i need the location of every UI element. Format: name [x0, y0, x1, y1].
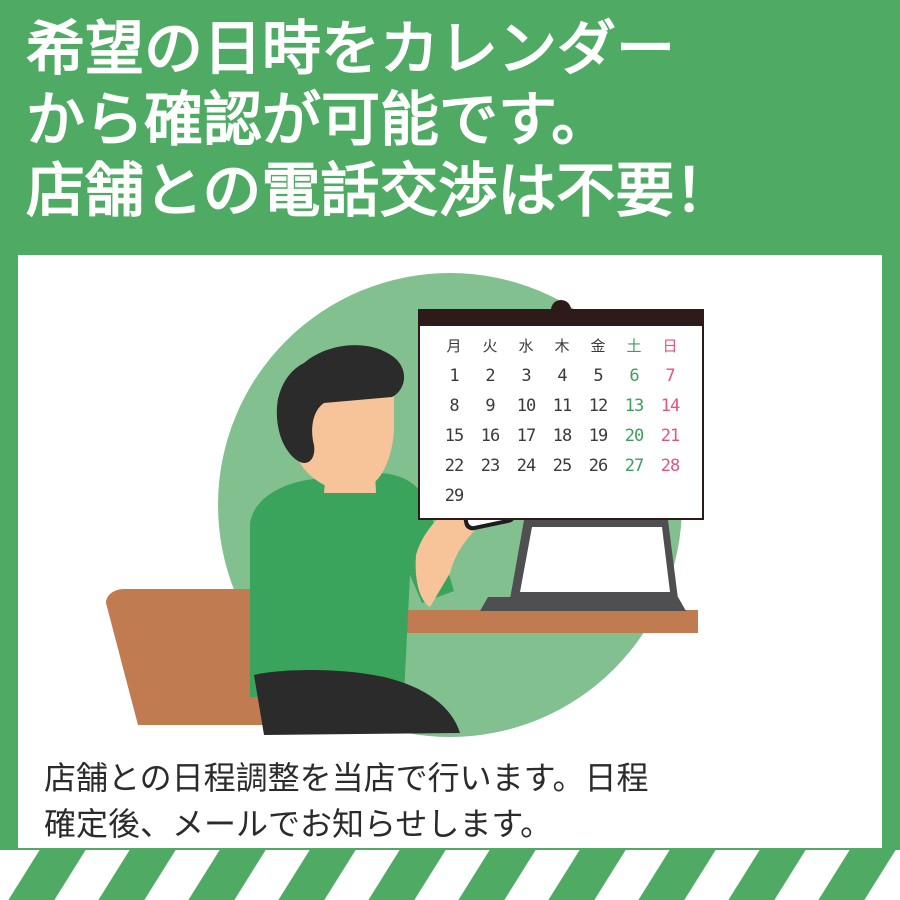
calendar-day: 26 [580, 454, 616, 478]
calendar-weekday-fri: 金 [580, 334, 616, 358]
calendar-day-empty [580, 484, 616, 508]
calendar-weekday-thu: 木 [544, 334, 580, 358]
calendar-day: 14 [652, 394, 688, 418]
calendar-day: 28 [652, 454, 688, 478]
calendar-day: 18 [544, 424, 580, 448]
calendar-day: 22 [436, 454, 472, 478]
stripe [136, 850, 229, 900]
calendar-day: 17 [508, 424, 544, 448]
bottom-stripe-band [0, 850, 900, 900]
calendar-day-empty [652, 484, 688, 508]
calendar-day: 23 [472, 454, 508, 478]
stripe [586, 850, 679, 900]
stripe [316, 850, 409, 900]
stripe [226, 850, 319, 900]
laptop-base [480, 597, 686, 611]
laptop-screen [520, 527, 670, 592]
page-title: 希望の日時をカレンダー から確認が可能です。 店舗との電話交渉は不要！ [26, 14, 876, 227]
calendar-day: 24 [508, 454, 544, 478]
calendar-day: 1 [436, 364, 472, 388]
header-banner: 希望の日時をカレンダー から確認が可能です。 店舗との電話交渉は不要！ [0, 0, 900, 253]
calendar-day-empty [616, 484, 652, 508]
content-panel: 月 火 水 木 金 土 日 1 2 3 4 5 6 7 8 9 10 [18, 255, 882, 848]
stripe [766, 850, 859, 900]
stripe [0, 850, 48, 900]
calendar-weekday-mon: 月 [436, 334, 472, 358]
calendar-weekday-wed: 水 [508, 334, 544, 358]
stripe [46, 850, 139, 900]
calendar-day: 20 [616, 424, 652, 448]
calendar-day-empty [544, 484, 580, 508]
calendar-day: 19 [580, 424, 616, 448]
wall-calendar: 月 火 水 木 金 土 日 1 2 3 4 5 6 7 8 9 10 [418, 300, 704, 522]
calendar-day: 3 [508, 364, 544, 388]
calendar-grid: 月 火 水 木 金 土 日 1 2 3 4 5 6 7 8 9 10 [436, 334, 688, 508]
calendar-day: 6 [616, 364, 652, 388]
calendar-day: 4 [544, 364, 580, 388]
calendar-day: 25 [544, 454, 580, 478]
calendar-weekday-sat: 土 [616, 334, 652, 358]
calendar-day: 2 [472, 364, 508, 388]
calendar-top-bar [418, 309, 704, 326]
calendar-weekday-tue: 火 [472, 334, 508, 358]
calendar-body: 月 火 水 木 金 土 日 1 2 3 4 5 6 7 8 9 10 [418, 326, 704, 520]
calendar-day: 8 [436, 394, 472, 418]
calendar-day-empty [508, 484, 544, 508]
calendar-day: 5 [580, 364, 616, 388]
calendar-weekday-sun: 日 [652, 334, 688, 358]
calendar-day: 15 [436, 424, 472, 448]
calendar-day: 27 [616, 454, 652, 478]
calendar-day: 13 [616, 394, 652, 418]
calendar-day: 16 [472, 424, 508, 448]
calendar-day: 11 [544, 394, 580, 418]
calendar-day: 29 [436, 484, 472, 508]
caption-text: 店舗との日程調整を当店で行います。日程 確定後、メールでお知らせします。 [44, 755, 844, 847]
calendar-day: 9 [472, 394, 508, 418]
stripe [856, 850, 900, 900]
calendar-day: 21 [652, 424, 688, 448]
stripe [406, 850, 499, 900]
calendar-day-empty [472, 484, 508, 508]
stripe [496, 850, 589, 900]
calendar-day: 10 [508, 394, 544, 418]
desk-surface [358, 610, 698, 633]
promo-banner-page: 希望の日時をカレンダー から確認が可能です。 店舗との電話交渉は不要！ [0, 0, 900, 900]
calendar-day: 7 [652, 364, 688, 388]
calendar-day: 12 [580, 394, 616, 418]
stripe [676, 850, 769, 900]
